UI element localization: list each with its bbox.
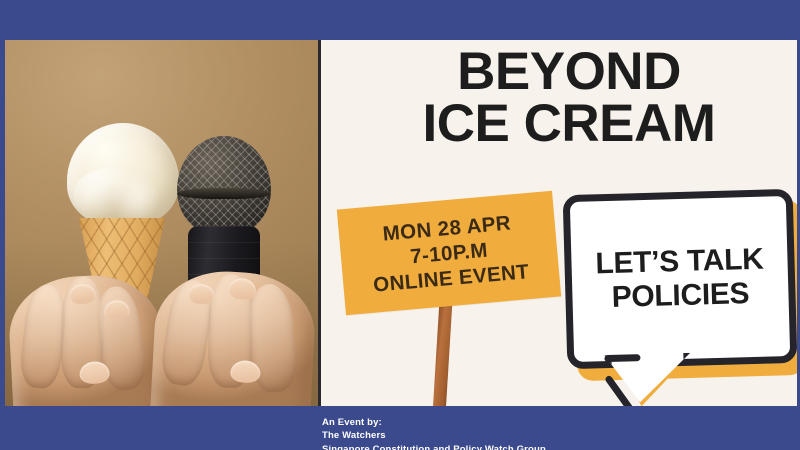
- frame-band-left: [0, 0, 5, 450]
- footer-credit: An Event by: The Watchers Singapore Cons…: [322, 416, 546, 450]
- speech-bubble-text: LET’S TALK POLICIES: [563, 189, 797, 369]
- bubble-line-2: POLICIES: [611, 277, 750, 314]
- footer-line-1: An Event by:: [322, 416, 546, 429]
- bubble-line-1: LET’S TALK: [595, 243, 764, 281]
- footer-line-2: The Watchers: [322, 429, 546, 442]
- footer-line-3: Singapore Constitution and Policy Watch …: [322, 443, 546, 450]
- frame-band-top: [0, 0, 800, 40]
- title-line-1: BEYOND: [341, 46, 797, 98]
- event-poster: BEYOND ICE CREAM MON 28 APR 7-10P.M ONLI…: [0, 0, 800, 450]
- sign-format: ONLINE EVENT: [372, 259, 530, 298]
- ice-cream-scoop-icon: [67, 123, 179, 227]
- speech-bubble-callout: LET’S TALK POLICIES: [565, 186, 797, 404]
- panel-divider: [318, 40, 321, 406]
- sign-board: MON 28 APR 7-10P.M ONLINE EVENT: [337, 191, 561, 315]
- microphone-band-icon: [177, 188, 271, 199]
- photo-panel: [5, 40, 318, 406]
- microphone-grille-icon: [177, 136, 271, 236]
- content-panel: BEYOND ICE CREAM MON 28 APR 7-10P.M ONLI…: [321, 40, 797, 406]
- event-details-sign: MON 28 APR 7-10P.M ONLINE EVENT: [335, 180, 565, 406]
- page-title: BEYOND ICE CREAM: [321, 46, 797, 150]
- title-line-2: ICE CREAM: [341, 98, 797, 150]
- sign-pole-icon: [431, 292, 453, 406]
- sign-text: MON 28 APR 7-10P.M ONLINE EVENT: [337, 191, 561, 315]
